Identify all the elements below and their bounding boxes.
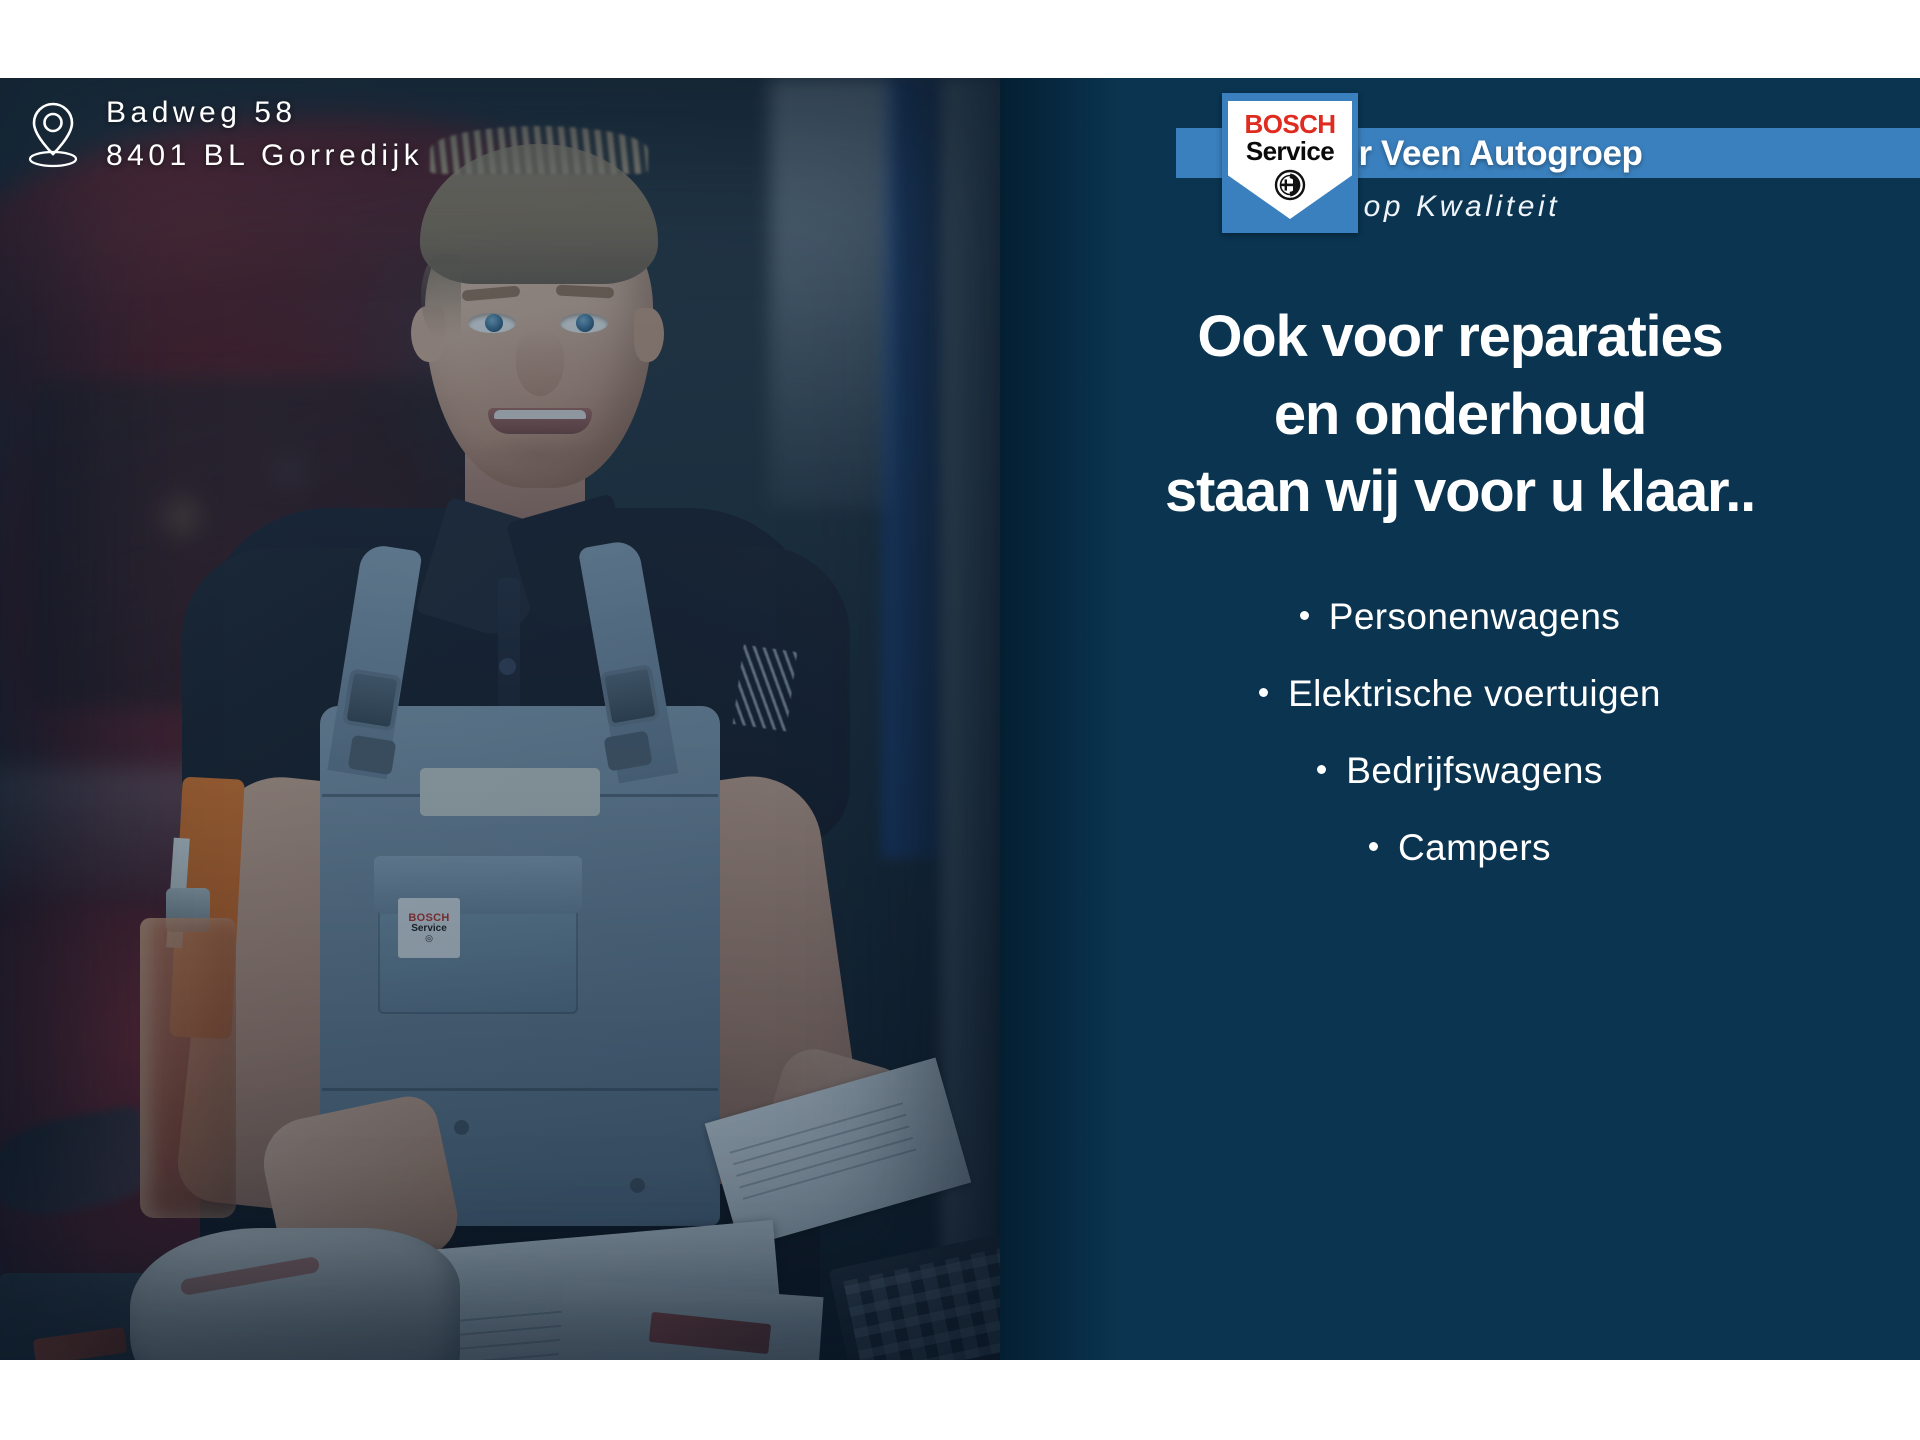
bosch-shield-shape: BOSCH Service [1228, 101, 1352, 219]
location-pin-icon [26, 101, 80, 169]
list-item: Elektrische voertuigen [1000, 675, 1920, 752]
bullet-dot-icon [1369, 842, 1378, 851]
service-label: Bedrijfswagens [1346, 750, 1603, 791]
mechanic-photo: BOSCH Service ◎ [0, 78, 1000, 1360]
address-line-2: 8401 BL Gorredijk [106, 135, 423, 178]
services-ul: Personenwagens Elektrische voertuigen Be… [1000, 598, 1920, 906]
list-item: Bedrijfswagens [1000, 752, 1920, 829]
vignette-overlay [0, 78, 1000, 1360]
bullet-dot-icon [1300, 611, 1309, 620]
list-item: Campers [1000, 829, 1920, 906]
services-list: Personenwagens Elektrische voertuigen Be… [1000, 598, 1920, 906]
service-label: Campers [1398, 827, 1551, 868]
bosch-wordmark: BOSCH [1245, 111, 1336, 137]
address-overlay: Badweg 58 8401 BL Gorredijk [26, 92, 423, 177]
list-item: Personenwagens [1000, 598, 1920, 675]
bosch-armature-icon [1274, 169, 1306, 201]
bullet-dot-icon [1259, 688, 1268, 697]
headline-line-3: staan wij voor u klaar.. [1000, 453, 1920, 531]
headline-line-2: en onderhoud [1000, 376, 1920, 454]
address-lines: Badweg 58 8401 BL Gorredijk [106, 92, 423, 177]
address-line-1: Badweg 58 [106, 92, 423, 135]
content-panel: BOSCH Service van der Veen Autogroep Foc… [1000, 78, 1920, 1360]
bullet-dot-icon [1317, 765, 1326, 774]
headline-line-1: Ook voor reparaties [1000, 298, 1920, 376]
advertisement-banner: BOSCH Service ◎ [0, 78, 1920, 1360]
headline: Ook voor reparaties en onderhoud staan w… [1000, 298, 1920, 531]
service-label: Elektrische voertuigen [1288, 673, 1661, 714]
service-label: Personenwagens [1329, 596, 1621, 637]
service-wordmark: Service [1246, 138, 1334, 165]
bosch-service-logo: BOSCH Service [1222, 93, 1358, 233]
